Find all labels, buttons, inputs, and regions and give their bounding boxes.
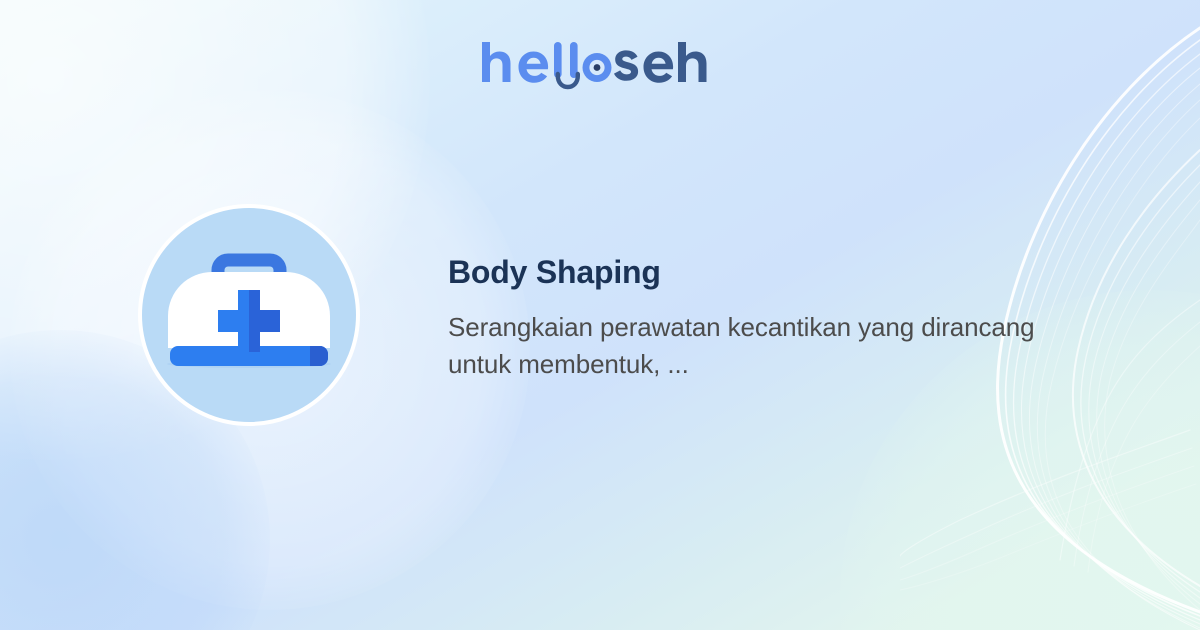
share-card: Body Shaping Serangkaian perawatan kecan… bbox=[0, 0, 1200, 630]
page-title: Body Shaping bbox=[448, 253, 1048, 291]
page-description: Serangkaian perawatan kecantikan yang di… bbox=[448, 309, 1048, 383]
medical-bag-glyph bbox=[142, 208, 356, 422]
card-content: Body Shaping Serangkaian perawatan kecan… bbox=[0, 0, 1200, 630]
medical-bag-icon bbox=[138, 204, 360, 426]
text-block: Body Shaping Serangkaian perawatan kecan… bbox=[448, 253, 1048, 383]
